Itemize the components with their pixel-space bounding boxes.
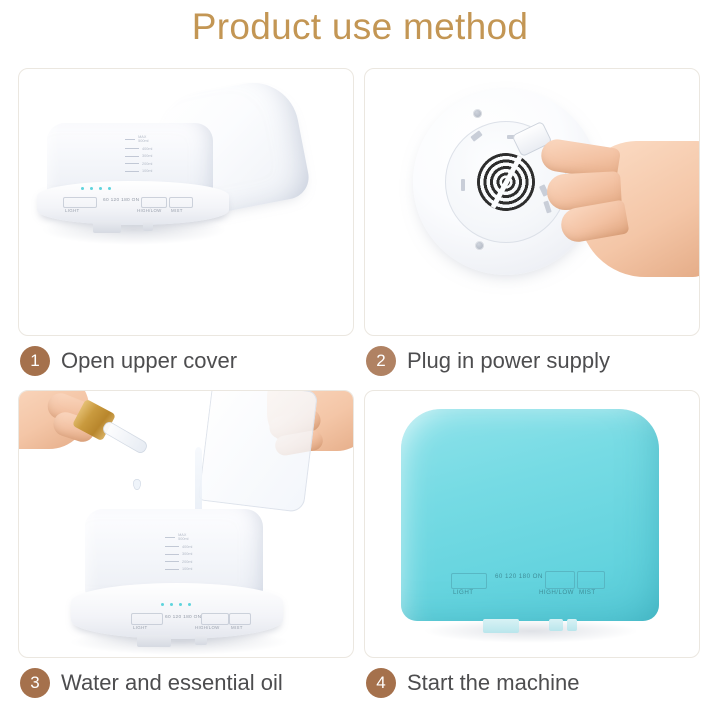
unit-foot — [483, 619, 519, 633]
mist-button[interactable] — [577, 571, 605, 589]
scene-start-the-machine: LIGHT 60 120 180 ON HIGH/LOW MIST — [365, 391, 699, 657]
led-indicator — [108, 187, 111, 190]
step-2-caption: 2 Plug in power supply — [366, 340, 610, 382]
light-label: LIGHT — [65, 208, 79, 213]
timer-label: 60 120 180 ON — [495, 573, 543, 580]
water-stream — [195, 447, 202, 515]
mist-label: MIST — [171, 208, 183, 213]
grad-label: MAX 500ml — [138, 135, 152, 143]
step-caption-text: Start the machine — [407, 670, 579, 696]
page-title: Product use method — [0, 6, 720, 48]
step-caption-text: Plug in power supply — [407, 348, 610, 374]
step-number-badge: 4 — [366, 668, 396, 698]
step-3-caption: 3 Water and essential oil — [20, 662, 283, 704]
step-card-4: LIGHT 60 120 180 ON HIGH/LOW MIST 4 Star… — [364, 390, 702, 708]
dropper-tube — [101, 420, 149, 455]
speed-button[interactable] — [545, 571, 575, 589]
base-foot — [143, 221, 153, 231]
control-panel: LIGHT 60 120 180 ON HIGH/LOW MIST — [443, 567, 629, 597]
screw — [475, 241, 484, 250]
led-indicator — [188, 603, 191, 606]
fan-vent-grille — [477, 153, 535, 211]
grad-label: 200ml — [182, 560, 192, 564]
grad-label: 300ml — [182, 552, 192, 556]
step-caption-text: Water and essential oil — [61, 670, 283, 696]
vent-center — [502, 178, 510, 186]
step-number-badge: 1 — [20, 346, 50, 376]
grad-label: MAX 500ml — [178, 533, 192, 541]
infographic-page: Product use method MAX 500ml 400ml — [0, 0, 720, 720]
mist-label: MIST — [231, 625, 243, 630]
light-label: LIGHT — [453, 589, 473, 596]
unit-shadow — [423, 619, 639, 643]
unit-foot — [567, 619, 577, 631]
step-card-3: MAX 500ml 400ml 300ml 200ml 100ml — [18, 390, 356, 708]
led-indicator — [81, 187, 84, 190]
steps-grid: MAX 500ml 400ml 300ml 200ml 100ml — [18, 68, 702, 708]
grad-label: 100ml — [182, 567, 192, 571]
led-indicator — [161, 603, 164, 606]
grad-label: 400ml — [142, 147, 152, 151]
light-button[interactable] — [63, 197, 97, 208]
led-indicator — [90, 187, 93, 190]
step-2-photo — [364, 68, 700, 336]
grad-label: 300ml — [142, 154, 152, 158]
led-indicator-row — [81, 187, 111, 190]
step-card-2: 2 Plug in power supply — [364, 68, 702, 386]
led-indicator — [179, 603, 182, 606]
timer-label: 60 120 180 ON — [165, 615, 201, 620]
oil-drop — [133, 479, 141, 490]
speed-label: HIGH/LOW — [195, 625, 220, 630]
measuring-cup — [198, 390, 318, 513]
control-panel: LIGHT 60 120 180 ON HIGH/LOW MIST — [41, 195, 225, 217]
scene-open-upper-cover: MAX 500ml 400ml 300ml 200ml 100ml — [19, 69, 353, 335]
mist-button[interactable] — [169, 197, 193, 208]
step-3-photo: MAX 500ml 400ml 300ml 200ml 100ml — [18, 390, 354, 658]
scene-plug-in-power — [365, 69, 699, 335]
mist-label: MIST — [579, 589, 596, 596]
scene-water-and-oil: MAX 500ml 400ml 300ml 200ml 100ml — [19, 391, 353, 657]
step-1-caption: 1 Open upper cover — [20, 340, 237, 382]
water-level-marks: MAX 500ml 400ml 300ml 200ml 100ml — [165, 533, 192, 575]
step-caption-text: Open upper cover — [61, 348, 237, 374]
speed-label: HIGH/LOW — [539, 589, 574, 596]
light-button[interactable] — [451, 573, 487, 589]
step-number-badge: 2 — [366, 346, 396, 376]
timer-label: 60 120 180 ON — [103, 198, 139, 203]
light-label: LIGHT — [133, 625, 147, 630]
grad-label: 100ml — [142, 169, 152, 173]
speed-label: HIGH/LOW — [137, 208, 162, 213]
light-button[interactable] — [131, 613, 163, 625]
base-foot — [137, 635, 171, 647]
screw — [473, 109, 482, 118]
base-foot — [195, 635, 207, 645]
base-foot — [93, 221, 121, 233]
step-card-1: MAX 500ml 400ml 300ml 200ml 100ml — [18, 68, 356, 386]
step-4-caption: 4 Start the machine — [366, 662, 579, 704]
unit-foot — [549, 619, 563, 631]
water-level-marks: MAX 500ml 400ml 300ml 200ml 100ml — [125, 135, 152, 177]
led-indicator-row — [161, 603, 191, 606]
led-indicator — [99, 187, 102, 190]
speed-button[interactable] — [141, 197, 167, 208]
step-number-badge: 3 — [20, 668, 50, 698]
control-panel: LIGHT 60 120 180 ON HIGH/LOW MIST — [77, 611, 277, 633]
led-indicator — [170, 603, 173, 606]
speed-button[interactable] — [201, 613, 229, 625]
mist-button[interactable] — [229, 613, 251, 625]
vent-tick — [461, 179, 465, 191]
step-1-photo: MAX 500ml 400ml 300ml 200ml 100ml — [18, 68, 354, 336]
grad-label: 400ml — [182, 545, 192, 549]
step-4-photo: LIGHT 60 120 180 ON HIGH/LOW MIST — [364, 390, 700, 658]
grad-label: 200ml — [142, 162, 152, 166]
